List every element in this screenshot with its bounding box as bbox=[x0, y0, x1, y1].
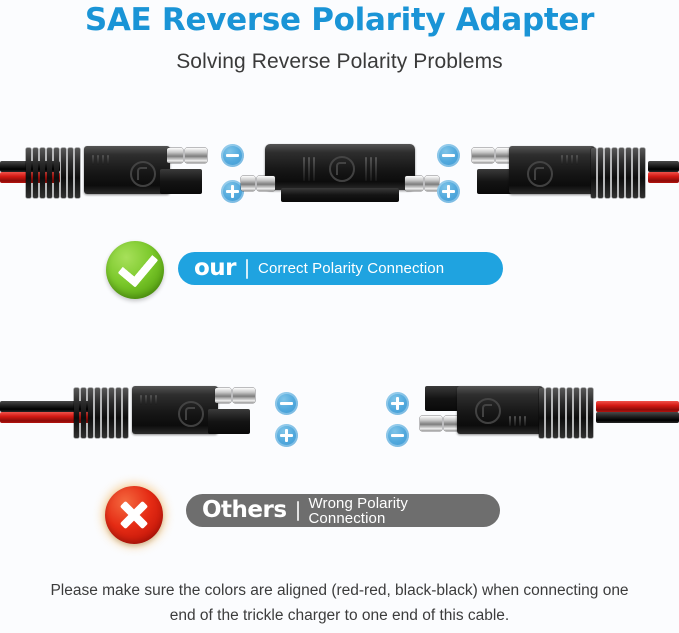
adapter-grooves-left bbox=[303, 157, 321, 181]
strain-relief bbox=[591, 148, 653, 198]
brand-logo-icon bbox=[178, 401, 204, 427]
cable-right bbox=[648, 161, 679, 183]
polarity-plus-right-adapter bbox=[437, 180, 460, 203]
correct-tail-label: Correct Polarity Connection bbox=[258, 261, 444, 276]
adapter-body bbox=[265, 144, 415, 190]
body-grooves bbox=[509, 416, 535, 426]
adapter-lower-lip bbox=[281, 188, 399, 202]
polarity-plus-wrong-right bbox=[386, 392, 409, 415]
polarity-minus-right-adapter bbox=[437, 144, 460, 167]
brand-logo-icon bbox=[130, 161, 156, 187]
cable-right-reversed bbox=[596, 401, 679, 423]
metal-pin bbox=[167, 148, 207, 163]
brand-logo-icon bbox=[475, 398, 501, 424]
red-wire bbox=[596, 401, 679, 412]
connector-tongue bbox=[160, 169, 202, 194]
metal-pin bbox=[215, 388, 255, 403]
correct-check-icon bbox=[106, 241, 164, 299]
strain-relief bbox=[74, 388, 136, 438]
body-grooves bbox=[140, 395, 166, 405]
polarity-minus-wrong-left bbox=[275, 392, 298, 415]
red-wire bbox=[648, 172, 679, 183]
page-title: SAE Reverse Polarity Adapter bbox=[0, 2, 679, 38]
connector-tongue bbox=[208, 409, 250, 434]
polarity-plus-wrong-left bbox=[275, 424, 298, 447]
connector-body bbox=[509, 146, 595, 194]
page-subtitle: Solving Reverse Polarity Problems bbox=[0, 50, 679, 74]
metal-pin-left bbox=[241, 176, 275, 191]
wrong-label-pill: Others Wrong Polarity Connection bbox=[186, 494, 500, 527]
correct-label-pill: our Correct Polarity Connection bbox=[178, 252, 503, 285]
pill-separator bbox=[246, 259, 248, 279]
connector-body bbox=[457, 386, 543, 434]
strain-relief bbox=[539, 388, 601, 438]
metal-pin bbox=[420, 416, 460, 431]
footer-note: Please make sure the colors are aligned … bbox=[40, 578, 639, 628]
brand-logo-icon bbox=[329, 156, 355, 182]
connector-body bbox=[84, 146, 170, 194]
body-grooves bbox=[561, 155, 587, 165]
metal-pin bbox=[472, 148, 512, 163]
polarity-minus-wrong-right bbox=[386, 424, 409, 447]
wrong-tail-label: Wrong Polarity Connection bbox=[309, 496, 485, 526]
adapter-grooves-right bbox=[365, 157, 383, 181]
strain-relief bbox=[26, 148, 88, 198]
infographic-canvas: SAE Reverse Polarity Adapter Solving Rev… bbox=[0, 0, 679, 633]
connector-body bbox=[132, 386, 218, 434]
black-wire bbox=[648, 161, 679, 172]
metal-pin-right bbox=[405, 176, 439, 191]
pill-separator bbox=[297, 501, 299, 521]
brand-logo-icon bbox=[527, 161, 553, 187]
body-grooves bbox=[92, 155, 118, 165]
polarity-minus-left-adapter bbox=[221, 144, 244, 167]
black-wire bbox=[596, 412, 679, 423]
wrong-cross-icon bbox=[105, 486, 163, 544]
correct-lead-label: our bbox=[194, 257, 236, 280]
wrong-lead-label: Others bbox=[202, 499, 287, 522]
